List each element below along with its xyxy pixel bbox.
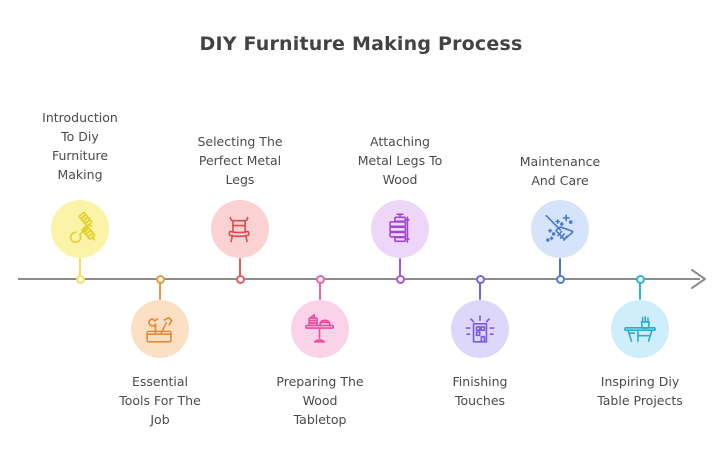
milestone-label: Inspiring Diy Table Projects [570,372,710,410]
desk-icon [621,310,659,348]
milestone-label: Preparing The Wood Tabletop [252,372,388,429]
timeline-canvas: DIY Furniture Making Process Introduct [0,0,722,452]
milestone-label: Attaching Metal Legs To Wood [332,132,468,189]
clamp-press-icon [381,210,419,248]
milestone-icon-bubble[interactable] [371,200,429,258]
milestone-icon-bubble[interactable] [131,300,189,358]
broom-sparkle-icon [541,210,579,248]
cake-stand-icon [301,310,339,348]
milestone-icon-bubble[interactable] [611,300,669,358]
milestone-node-dot[interactable] [76,275,85,284]
building-shine-icon [461,310,499,348]
milestone-icon-bubble[interactable] [531,200,589,258]
milestone-node-dot[interactable] [636,275,645,284]
milestone-node-dot[interactable] [476,275,485,284]
milestone-icon-bubble[interactable] [51,200,109,258]
milestone-label: Finishing Touches [417,372,543,410]
wrench-and-screws-icon [61,210,99,248]
milestone-node-dot[interactable] [156,275,165,284]
milestone-node-dot[interactable] [236,275,245,284]
toolbox-icon [141,310,179,348]
milestone-icon-bubble[interactable] [211,200,269,258]
milestone-icon-bubble[interactable] [451,300,509,358]
milestone-icon-bubble[interactable] [291,300,349,358]
milestone-label: Selecting The Perfect Metal Legs [173,132,307,189]
milestone-node-dot[interactable] [316,275,325,284]
milestone-label: Essential Tools For The Job [94,372,226,429]
chair-icon [221,210,259,248]
milestone-node-dot[interactable] [396,275,405,284]
milestone-label: Maintenance And Care [493,152,627,190]
milestone-node-dot[interactable] [556,275,565,284]
milestone-label: Introduction To Diy Furniture Making [15,108,145,184]
